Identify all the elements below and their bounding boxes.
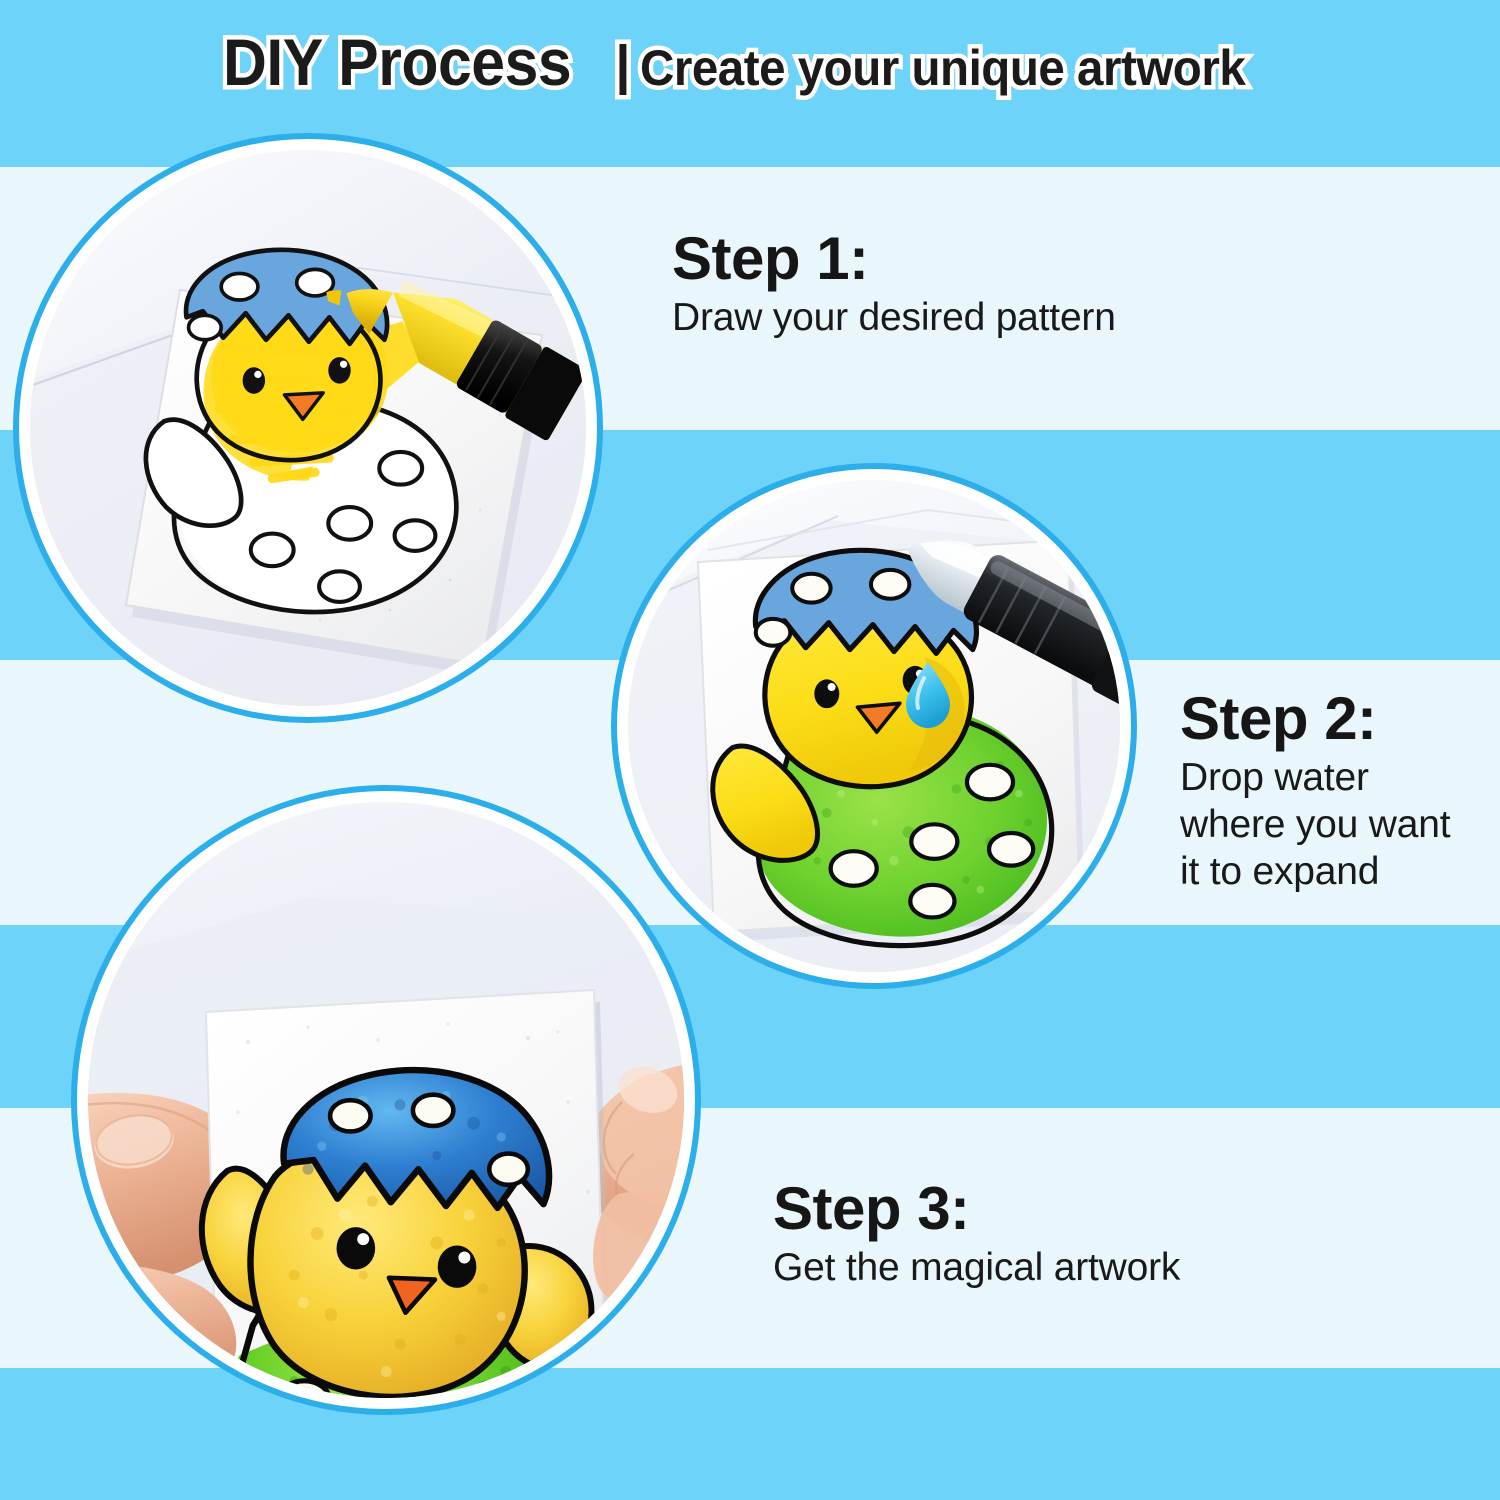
- title-main-text: DIY Process: [223, 24, 571, 100]
- step-2-body-line-3: it to expand: [1180, 849, 1480, 896]
- step-2-photo: [628, 480, 1120, 972]
- step-3-body-line-1: Get the magical artwork: [773, 1245, 1180, 1292]
- step-1-photo: [30, 150, 586, 706]
- step-1-body: Draw your desired pattern: [672, 295, 1116, 342]
- step-3-photo: [88, 802, 684, 1398]
- step-2-photo-scene: [628, 480, 1120, 972]
- step-2-heading: Step 2:: [1180, 688, 1480, 749]
- step-3-photo-scene: [88, 802, 684, 1398]
- step-2-body-line-2: where you want: [1180, 802, 1480, 849]
- step-2-body-line-1: Drop water: [1180, 755, 1480, 802]
- title-separator: |: [615, 27, 630, 103]
- step-3-body: Get the magical artwork: [773, 1245, 1180, 1292]
- page-title: DIY Process|Create your unique artwork: [0, 24, 1500, 106]
- step-3-heading: Step 3:: [773, 1178, 1180, 1239]
- title-subtitle-text: Create your unique artwork: [640, 30, 1245, 106]
- step-1-heading: Step 1:: [672, 228, 1116, 289]
- step-2-body: Drop water where you want it to expand: [1180, 755, 1480, 895]
- step-1-text: Step 1: Draw your desired pattern: [672, 228, 1116, 342]
- step-1-body-line-1: Draw your desired pattern: [672, 295, 1116, 342]
- diy-process-infographic: DIY Process|Create your unique artwork: [0, 0, 1500, 1500]
- step-1-photo-scene: [30, 150, 586, 706]
- step-2-text: Step 2: Drop water where you want it to …: [1180, 688, 1480, 896]
- step-3-text: Step 3: Get the magical artwork: [773, 1178, 1180, 1292]
